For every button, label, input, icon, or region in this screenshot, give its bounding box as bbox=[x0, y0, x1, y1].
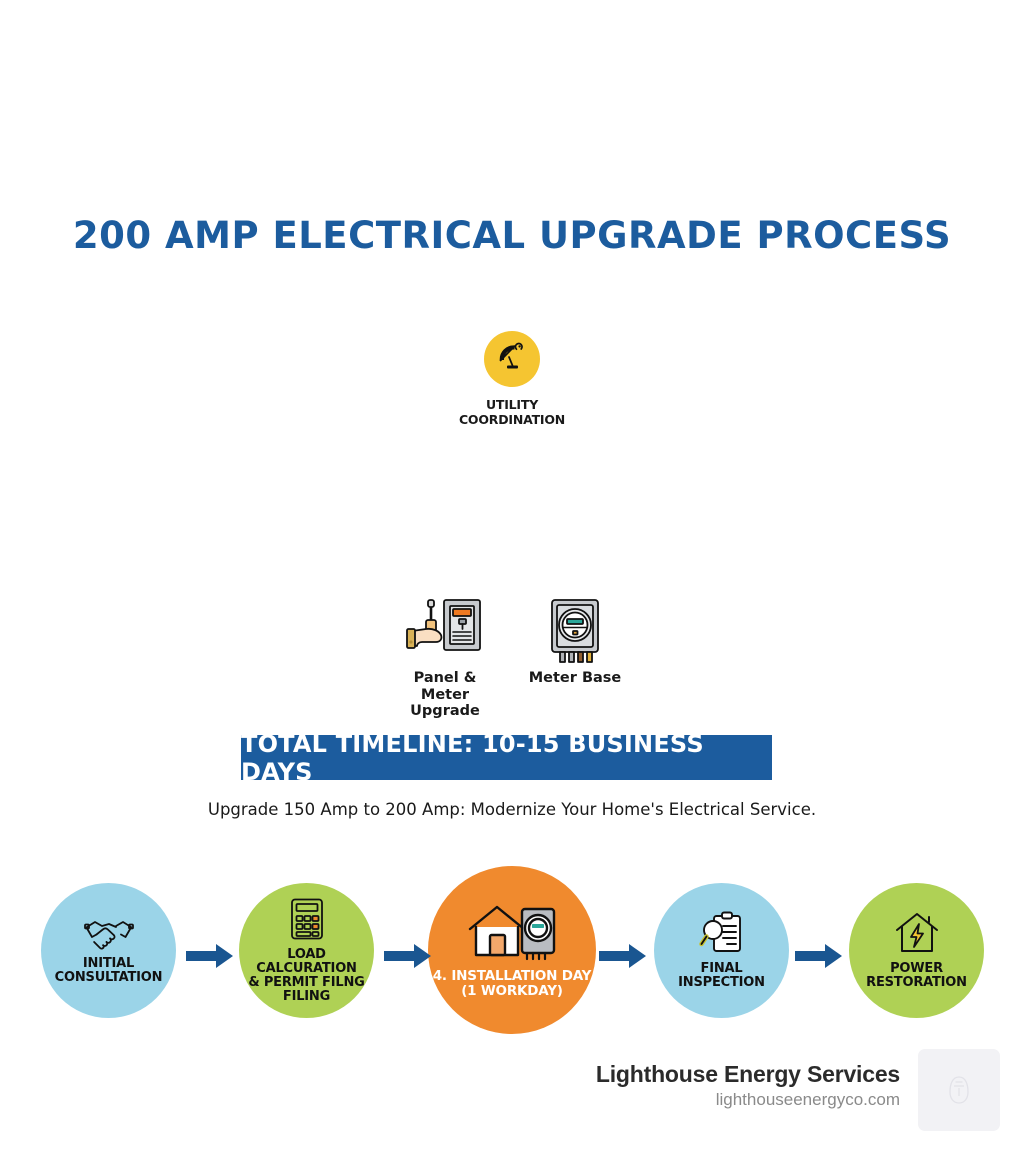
brand-block: Lighthouse Energy Services lighthouseene… bbox=[596, 1061, 900, 1110]
total-timeline-banner: TOTAL TIMELINE: 10-15 BUSINESS DAYS bbox=[241, 735, 772, 780]
flow-arrow-1 bbox=[186, 943, 234, 969]
infographic-canvas: 200 AMP ELECTRICAL UPGRADE PROCESS bbox=[0, 0, 1024, 1154]
magnifier-clipboard-icon bbox=[699, 911, 745, 955]
process-node-label: 4. INSTALLATION DAY (1 WORKDAY) bbox=[433, 969, 592, 998]
process-node-installation-day[interactable]: 4. INSTALLATION DAY (1 WORKDAY) bbox=[428, 866, 596, 1034]
sub-icon-meter-base: Meter Base bbox=[520, 596, 630, 687]
process-node-initial-consultation[interactable]: INITIAL CONSULTATION bbox=[41, 883, 176, 1018]
flow-arrow-4 bbox=[795, 943, 843, 969]
brand-logo-placeholder bbox=[918, 1049, 1000, 1131]
house-lightning-icon bbox=[894, 911, 940, 955]
hand-screwdriver-panel-icon bbox=[390, 596, 500, 664]
process-node-label: LOAD CALCURATION & PERMIT FILNG FILING bbox=[239, 948, 374, 1004]
sub-icon-label: Meter Base bbox=[520, 670, 630, 687]
process-node-label: FINAL INSPECTION bbox=[678, 962, 765, 990]
satellite-dish-icon bbox=[495, 340, 529, 379]
house-with-meter-icon bbox=[466, 901, 558, 963]
brand-name: Lighthouse Energy Services bbox=[596, 1061, 900, 1088]
meter-base-icon bbox=[520, 596, 630, 664]
process-node-load-calculation-permit[interactable]: LOAD CALCURATION & PERMIT FILNG FILING bbox=[239, 883, 374, 1018]
footer: Lighthouse Energy Services lighthouseene… bbox=[0, 1045, 1024, 1150]
utility-coordination-node: UTILITY COORDINATION bbox=[433, 331, 591, 427]
sub-icon-label: Panel & Meter Upgrade bbox=[390, 670, 500, 720]
process-flow-row: INITIAL CONSULTATION bbox=[0, 440, 1024, 590]
handshake-icon bbox=[83, 916, 135, 950]
process-node-label: INITIAL CONSULTATION bbox=[55, 957, 163, 985]
flow-arrow-2 bbox=[384, 943, 432, 969]
process-node-power-restoration[interactable]: POWER RESTORATION bbox=[849, 883, 984, 1018]
lighthouse-icon bbox=[946, 1074, 972, 1106]
calculator-icon bbox=[289, 897, 325, 941]
installation-sub-icons: Panel & Meter Upgrade bbox=[390, 596, 640, 706]
process-node-final-inspection[interactable]: FINAL INSPECTION bbox=[654, 883, 789, 1018]
utility-coordination-circle bbox=[484, 331, 540, 387]
page-title: 200 AMP ELECTRICAL UPGRADE PROCESS bbox=[0, 214, 1024, 258]
process-node-label: POWER RESTORATION bbox=[866, 962, 967, 990]
sub-icon-panel-meter-upgrade: Panel & Meter Upgrade bbox=[390, 596, 500, 720]
total-timeline-text: TOTAL TIMELINE: 10-15 BUSINESS DAYS bbox=[241, 730, 772, 786]
utility-coordination-label: UTILITY COORDINATION bbox=[433, 397, 591, 427]
flow-arrow-3 bbox=[599, 943, 647, 969]
tagline: Upgrade 150 Amp to 200 Amp: Modernize Yo… bbox=[0, 800, 1024, 819]
brand-url: lighthouseenergyco.com bbox=[596, 1090, 900, 1110]
